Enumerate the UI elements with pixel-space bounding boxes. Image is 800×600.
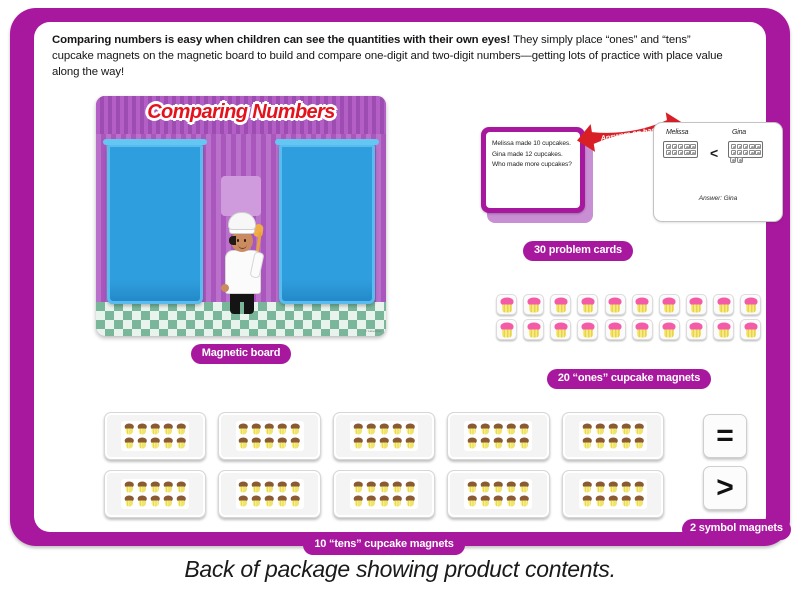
answer-card-left-name: Melissa <box>666 129 688 136</box>
cupcake-icon <box>635 322 649 337</box>
tens-tile-cupcakes <box>579 421 647 451</box>
cupcake-icon <box>291 496 301 507</box>
cupcake-icon <box>595 438 605 449</box>
ones-magnet-tile[interactable] <box>686 294 707 315</box>
magnetic-board-label-wrap: Magnetic board <box>96 343 386 364</box>
mini-cupcake-icon <box>672 144 678 150</box>
package-frame: Comparing numbers is easy when children … <box>10 8 790 546</box>
cupcake-icon <box>621 482 631 493</box>
intro-paragraph: Comparing numbers is easy when children … <box>52 32 732 81</box>
image-caption: Back of package showing product contents… <box>0 556 800 583</box>
mini-cupcake-icon <box>749 144 755 150</box>
cupcake-icon <box>366 438 376 449</box>
cupcake-icon <box>392 482 402 493</box>
mini-cupcake-icon <box>743 150 749 156</box>
ones-magnet-tile[interactable] <box>632 294 653 315</box>
cupcake-icon <box>137 424 147 435</box>
tens-magnet-tile[interactable] <box>562 412 664 460</box>
cupcake-icon <box>124 424 134 435</box>
cupcake-icon <box>163 482 173 493</box>
cupcake-icon <box>608 438 618 449</box>
cupcake-icon <box>621 424 631 435</box>
cupcake-icon <box>595 482 605 493</box>
tens-magnets-grid <box>104 412 664 518</box>
answer-card-left-ten-frame <box>663 141 698 158</box>
cupcake-icon <box>278 438 288 449</box>
symbol-magnet-greater-than[interactable]: > <box>703 466 747 510</box>
cupcake-icon <box>176 424 186 435</box>
cupcake-icon <box>366 424 376 435</box>
chef-character-illustration <box>219 212 265 318</box>
cupcake-icon <box>353 438 363 449</box>
symbol-magnet-equals[interactable]: = <box>703 414 747 458</box>
cupcake-icon <box>608 297 622 312</box>
cupcake-icon <box>150 496 160 507</box>
mini-cupcake-icon <box>731 144 737 150</box>
ones-magnet-tile[interactable] <box>523 319 544 340</box>
mini-cupcake-icon <box>731 150 737 156</box>
cupcake-icon <box>239 482 249 493</box>
mini-cupcake-icon <box>743 144 749 150</box>
symbol-magnets-label-wrap: 2 symbol magnets <box>682 518 768 540</box>
chef-eye-left <box>237 239 239 242</box>
cupcake-icon <box>582 482 592 493</box>
ones-magnet-tile[interactable] <box>713 319 734 340</box>
cupcake-icon <box>379 424 389 435</box>
ones-magnet-tile[interactable] <box>605 319 626 340</box>
cupcake-icon <box>366 482 376 493</box>
tens-magnets-section: 10 “tens” cupcake magnets <box>104 412 664 518</box>
cupcake-icon <box>468 424 478 435</box>
cupcake-icon <box>163 438 173 449</box>
problem-card-line-3: Who made more cupcakes? <box>492 160 575 170</box>
cupcake-icon <box>176 482 186 493</box>
cupcake-icon <box>137 438 147 449</box>
tens-magnet-tile[interactable] <box>562 470 664 518</box>
mini-cupcake-icon <box>666 150 672 156</box>
cupcake-icon <box>291 424 301 435</box>
cupcake-icon <box>582 424 592 435</box>
cupcake-icon <box>239 438 249 449</box>
cupcake-icon <box>124 496 134 507</box>
cupcake-icon <box>507 424 517 435</box>
tens-tile-cupcakes <box>464 479 532 509</box>
cupcake-icon <box>150 482 160 493</box>
cupcake-icon <box>689 297 703 312</box>
intro-bold-text: Comparing numbers is easy when children … <box>52 34 510 46</box>
cupcake-icon <box>717 297 731 312</box>
tens-tile-cupcakes <box>236 479 304 509</box>
ones-magnets-label-wrap: 20 “ones” cupcake magnets <box>496 368 762 389</box>
ones-magnets-section: 20 “ones” cupcake magnets <box>496 294 762 340</box>
cupcake-icon <box>494 438 504 449</box>
ones-magnet-tile[interactable] <box>740 294 761 315</box>
tens-magnets-label: 10 “tens” cupcake magnets <box>303 535 464 555</box>
ones-magnet-tile[interactable] <box>550 319 571 340</box>
cupcake-icon <box>239 424 249 435</box>
tens-tile-cupcakes <box>350 479 418 509</box>
tens-tile-cupcakes <box>121 421 189 451</box>
cupcake-icon <box>744 297 758 312</box>
mini-cupcake-icon <box>730 157 736 163</box>
cupcake-icon <box>595 496 605 507</box>
tens-magnet-tile[interactable] <box>447 412 549 460</box>
cupcake-icon <box>621 438 631 449</box>
cupcake-icon <box>252 496 262 507</box>
cupcake-icon <box>291 482 301 493</box>
cupcake-icon <box>366 496 376 507</box>
ones-magnet-tile[interactable] <box>659 319 680 340</box>
tens-tile-cupcakes <box>350 421 418 451</box>
mini-cupcake-icon <box>737 157 743 163</box>
cupcake-icon <box>744 322 758 337</box>
cupcake-icon <box>481 482 491 493</box>
cupcake-icon <box>252 482 262 493</box>
tens-tile-cupcakes <box>121 479 189 509</box>
cupcake-icon <box>520 496 530 507</box>
problem-card-line-1: Melissa made 10 cupcakes. <box>492 139 575 149</box>
cupcake-icon <box>481 496 491 507</box>
cupcake-icon <box>278 482 288 493</box>
cupcake-icon <box>252 438 262 449</box>
magnetic-board-label: Magnetic board <box>191 344 292 364</box>
ones-magnet-tile[interactable] <box>740 319 761 340</box>
cupcake-icon <box>507 496 517 507</box>
mini-cupcake-icon <box>737 150 743 156</box>
cupcake-icon <box>353 496 363 507</box>
screenshot-root: Comparing numbers is easy when children … <box>0 0 800 600</box>
problem-card-front[interactable]: Melissa made 10 cupcakes. Gina made 12 c… <box>481 127 585 213</box>
mini-cupcake-icon <box>737 144 743 150</box>
tens-tile-cupcakes <box>464 421 532 451</box>
magnetic-board-section: Comparing Numbers © Lakeshore Magnetic b… <box>96 96 386 336</box>
cupcake-icon <box>137 496 147 507</box>
cupcake-icon <box>278 496 288 507</box>
mini-cupcake-icon <box>684 144 690 150</box>
cupcake-icon <box>176 438 186 449</box>
cupcake-icon <box>124 482 134 493</box>
cupcake-icon <box>163 424 173 435</box>
board-pocket-left[interactable] <box>107 144 203 304</box>
ones-magnet-tile[interactable] <box>577 319 598 340</box>
ones-magnet-tile[interactable] <box>550 294 571 315</box>
cupcake-icon <box>291 438 301 449</box>
cupcake-icon <box>239 496 249 507</box>
chef-hair <box>229 236 236 245</box>
cupcake-icon <box>392 496 402 507</box>
board-copyright: © Lakeshore <box>365 329 382 333</box>
tens-tile-cupcakes <box>236 421 304 451</box>
cupcake-icon <box>634 438 644 449</box>
cupcake-icon <box>265 438 275 449</box>
cupcake-icon <box>494 496 504 507</box>
pocket-lip <box>103 139 207 145</box>
problem-cards-label-wrap: 30 problem cards <box>523 240 633 261</box>
ones-magnets-label: 20 “ones” cupcake magnets <box>547 369 711 389</box>
cupcake-icon <box>582 496 592 507</box>
chef-hat-icon <box>228 212 256 230</box>
cupcake-icon <box>278 424 288 435</box>
cupcake-icon <box>265 482 275 493</box>
cupcake-icon <box>621 496 631 507</box>
cupcake-icon <box>379 438 389 449</box>
cupcake-icon <box>507 482 517 493</box>
cupcake-icon <box>481 424 491 435</box>
cupcake-icon <box>608 496 618 507</box>
cupcake-icon <box>581 322 595 337</box>
cupcake-icon <box>507 438 517 449</box>
cupcake-icon <box>662 322 676 337</box>
ones-magnet-tile[interactable] <box>686 319 707 340</box>
mini-cupcake-icon <box>749 150 755 156</box>
ones-magnets-grid <box>496 294 762 340</box>
cupcake-icon <box>494 424 504 435</box>
ones-magnet-tile[interactable] <box>632 319 653 340</box>
ones-magnet-tile[interactable] <box>605 294 626 315</box>
chef-leg-gap <box>240 302 244 314</box>
cupcake-icon <box>265 424 275 435</box>
cupcake-icon <box>150 438 160 449</box>
cupcake-icon <box>554 322 568 337</box>
cupcake-icon <box>608 482 618 493</box>
problem-card-line-2: Gina made 12 cupcakes. <box>492 150 575 160</box>
tens-magnet-tile[interactable] <box>218 412 320 460</box>
cupcake-icon <box>717 322 731 337</box>
cupcake-icon <box>265 496 275 507</box>
cupcake-icon <box>379 482 389 493</box>
cupcake-icon <box>353 482 363 493</box>
package-inner-panel: Comparing numbers is easy when children … <box>34 22 766 532</box>
answer-card-right-ten-frame <box>728 141 763 158</box>
mini-cupcake-icon <box>678 144 684 150</box>
cupcake-icon <box>595 424 605 435</box>
cupcake-icon <box>353 424 363 435</box>
cupcake-icon <box>405 438 415 449</box>
cupcake-icon <box>405 424 415 435</box>
ones-magnet-tile[interactable] <box>523 294 544 315</box>
cupcake-icon <box>405 482 415 493</box>
cupcake-icon <box>468 496 478 507</box>
cupcake-icon <box>608 424 618 435</box>
cupcake-icon <box>634 496 644 507</box>
mini-cupcake-icon <box>684 150 690 156</box>
answer-card-extra-ones <box>730 157 743 163</box>
problem-card-face: Melissa made 10 cupcakes. Gina made 12 c… <box>486 132 580 208</box>
symbol-magnets-label: 2 symbol magnets <box>682 519 791 540</box>
mini-cupcake-icon <box>678 150 684 156</box>
cupcake-icon <box>662 297 676 312</box>
cupcake-icon <box>150 424 160 435</box>
mini-cupcake-icon <box>690 150 696 156</box>
board-title: Comparing Numbers <box>96 101 386 124</box>
cupcake-icon <box>124 438 134 449</box>
cupcake-icon <box>608 322 622 337</box>
answer-card-comparison-symbol: < <box>710 145 718 161</box>
board-window-shape <box>221 176 261 216</box>
cupcake-icon <box>520 482 530 493</box>
mini-cupcake-icon <box>672 150 678 156</box>
ones-magnet-tile[interactable] <box>496 319 517 340</box>
cupcake-icon <box>468 438 478 449</box>
symbol-magnets-section: = > 2 symbol magnets <box>688 414 762 518</box>
cupcake-icon <box>689 322 703 337</box>
ones-magnet-tile[interactable] <box>496 294 517 315</box>
cupcake-icon <box>527 322 541 337</box>
board-pocket-right[interactable] <box>279 144 375 304</box>
mini-cupcake-icon <box>755 144 761 150</box>
tens-magnets-label-wrap: 10 “tens” cupcake magnets <box>104 534 664 555</box>
chef-hand <box>221 284 229 292</box>
tens-magnet-tile[interactable] <box>333 470 435 518</box>
cupcake-icon <box>176 496 186 507</box>
cupcake-icon <box>252 424 262 435</box>
cupcake-icon <box>582 438 592 449</box>
ones-magnet-tile[interactable] <box>577 294 598 315</box>
cupcake-icon <box>581 297 595 312</box>
mini-cupcake-icon <box>690 144 696 150</box>
cupcake-icon <box>500 297 514 312</box>
ones-magnet-tile[interactable] <box>713 294 734 315</box>
tens-magnet-tile[interactable] <box>333 412 435 460</box>
tens-tile-cupcakes <box>579 479 647 509</box>
mini-cupcake-icon <box>666 144 672 150</box>
cupcake-icon <box>481 438 491 449</box>
pocket-lip <box>275 139 379 145</box>
cupcake-icon <box>468 482 478 493</box>
problem-cards-label: 30 problem cards <box>523 241 633 261</box>
cupcake-icon <box>634 424 644 435</box>
tens-magnet-tile[interactable] <box>104 470 206 518</box>
cupcake-icon <box>520 424 530 435</box>
tens-magnet-tile[interactable] <box>104 412 206 460</box>
cupcake-icon <box>392 438 402 449</box>
magnetic-board[interactable]: Comparing Numbers © Lakeshore <box>96 96 386 336</box>
cupcake-icon <box>392 424 402 435</box>
answer-card-right-name: Gina <box>732 129 746 136</box>
cupcake-icon <box>405 496 415 507</box>
ones-magnet-tile[interactable] <box>659 294 680 315</box>
cupcake-icon <box>634 482 644 493</box>
answer-card[interactable]: Melissa Gina < <box>653 122 783 222</box>
tens-magnet-tile[interactable] <box>218 470 320 518</box>
cupcake-icon <box>635 297 649 312</box>
answer-card-answer-text: Answer: Gina <box>654 195 782 202</box>
cupcake-icon <box>554 297 568 312</box>
cupcake-icon <box>527 297 541 312</box>
cupcake-icon <box>137 482 147 493</box>
mini-cupcake-icon <box>755 150 761 156</box>
cupcake-icon <box>494 482 504 493</box>
cupcake-icon <box>379 496 389 507</box>
chef-eye-right <box>244 239 246 242</box>
cupcake-icon <box>520 438 530 449</box>
cupcake-icon <box>163 496 173 507</box>
tens-magnet-tile[interactable] <box>447 470 549 518</box>
cupcake-icon <box>500 322 514 337</box>
